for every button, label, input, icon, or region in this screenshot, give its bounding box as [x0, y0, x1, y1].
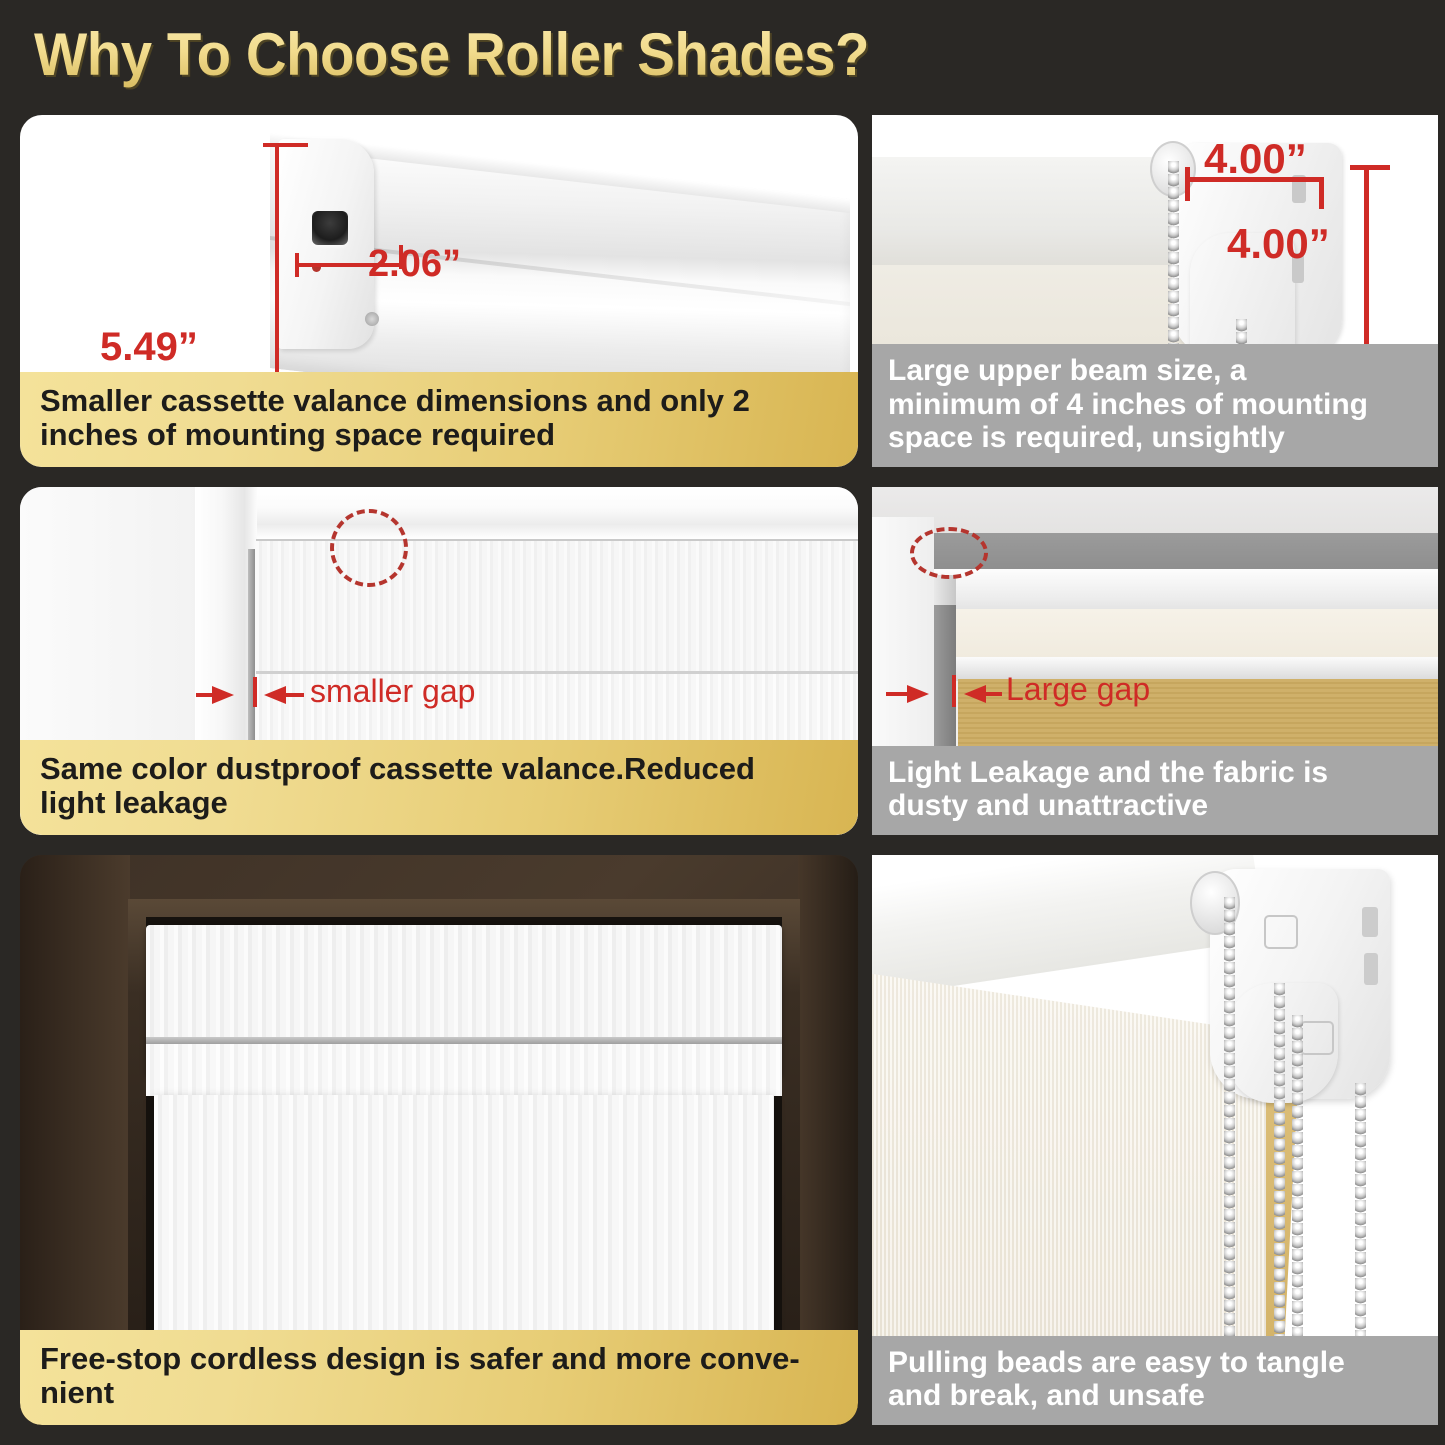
panel-cordless-design: Free-stop cordless design is safer and m… — [20, 855, 858, 1425]
gap-arrow-right-icon — [264, 686, 286, 704]
bracket-slot — [312, 211, 348, 245]
caption-panel-3: Same color dustproof cassette valance.Re… — [20, 740, 858, 835]
panel-large-beam: 4.00” 4.00” Large upper beam size, a min… — [872, 115, 1438, 467]
bead-chain-2 — [1274, 983, 1285, 1358]
gap-highlight-circle — [910, 527, 988, 579]
gap-highlight-circle — [330, 509, 408, 587]
beam-height-tick-top — [1350, 165, 1390, 170]
bracket-notch-a — [1362, 907, 1378, 937]
gap-callout-label: smaller gap — [310, 673, 475, 710]
page-title: Why To Choose Roller Shades? — [34, 20, 869, 89]
gap-arrow-right-icon — [964, 685, 986, 703]
caption-line: nient — [40, 1376, 840, 1411]
gap-arrow-left-icon — [907, 685, 929, 703]
caption-line: Smaller cassette valance dimensions and … — [40, 384, 840, 419]
bracket-emblem-lower-icon — [1300, 1021, 1334, 1055]
bracket-notch-b — [1364, 953, 1378, 985]
gap-arrow-right-stem — [986, 692, 1002, 696]
caption-line: dusty and unattractive — [888, 789, 1422, 823]
caption-line: Same color dustproof cassette valance.Re… — [40, 752, 840, 787]
width-dimension-label: 2.06” — [368, 243, 461, 286]
panel-smaller-cassette: 5.49” 2.06” Smaller cassette valance dim… — [20, 115, 858, 467]
beam-width-tick-right — [1319, 177, 1324, 209]
panel-pulling-beads: Pulling beads are easy to tangle and bre… — [872, 855, 1438, 1425]
height-dimension-label: 5.49” — [100, 325, 198, 370]
caption-line: Pulling beads are easy to tangle — [888, 1346, 1422, 1380]
caption-panel-5: Free-stop cordless design is safer and m… — [20, 1330, 858, 1425]
cassette-lower-face — [146, 1044, 782, 1096]
panel-dustproof-valance: smaller gap Same color dustproof cassett… — [20, 487, 858, 835]
caption-line: inches of mounting space required — [40, 418, 840, 453]
bead-chain-3 — [1292, 1015, 1303, 1358]
caption-line: Large upper beam size, a — [888, 354, 1422, 388]
infographic-page: Why To Choose Roller Shades? Why To Choo… — [0, 0, 1445, 1445]
bracket-emblem-upper-icon — [1264, 915, 1298, 949]
gap-tick-marker — [952, 675, 956, 707]
window-frame-top — [195, 487, 858, 539]
gap-arrow-left-stem — [196, 693, 216, 697]
gap-tick-marker — [253, 677, 257, 707]
bead-chain-4 — [1355, 1083, 1366, 1358]
beam-width-tick-left — [1185, 167, 1190, 201]
beam-height-label: 4.00” — [1227, 220, 1330, 268]
width-dim-tick-left — [295, 253, 299, 277]
screw-upper — [365, 312, 379, 326]
wall-surface — [872, 487, 1438, 533]
caption-panel-6: Pulling beads are easy to tangle and bre… — [872, 1336, 1438, 1425]
gap-arrow-right-stem — [286, 693, 304, 697]
beam-width-label: 4.00” — [1204, 135, 1307, 183]
cassette-lip — [146, 1037, 782, 1044]
caption-panel-2: Large upper beam size, a minimum of 4 in… — [872, 344, 1438, 467]
caption-line: space is required, unsightly — [888, 421, 1422, 455]
caption-line: Light Leakage and the fabric is — [888, 756, 1422, 790]
caption-panel-1: Smaller cassette valance dimensions and … — [20, 372, 858, 467]
caption-panel-4: Light Leakage and the fabric is dusty an… — [872, 746, 1438, 835]
caption-line: minimum of 4 inches of mounting — [888, 388, 1422, 422]
panel-light-leakage: Large gap Light Leakage and the fabric i… — [872, 487, 1438, 835]
caption-line: and break, and unsafe — [888, 1379, 1422, 1413]
dark-beam-top — [930, 533, 1438, 571]
gap-callout-label: Large gap — [1006, 671, 1150, 708]
caption-line: light leakage — [40, 786, 840, 821]
caption-line: Free-stop cordless design is safer and m… — [40, 1342, 840, 1377]
gap-arrow-left-stem — [886, 692, 910, 696]
bead-chain-1 — [1224, 897, 1235, 1357]
height-dim-tick-top — [263, 143, 308, 147]
